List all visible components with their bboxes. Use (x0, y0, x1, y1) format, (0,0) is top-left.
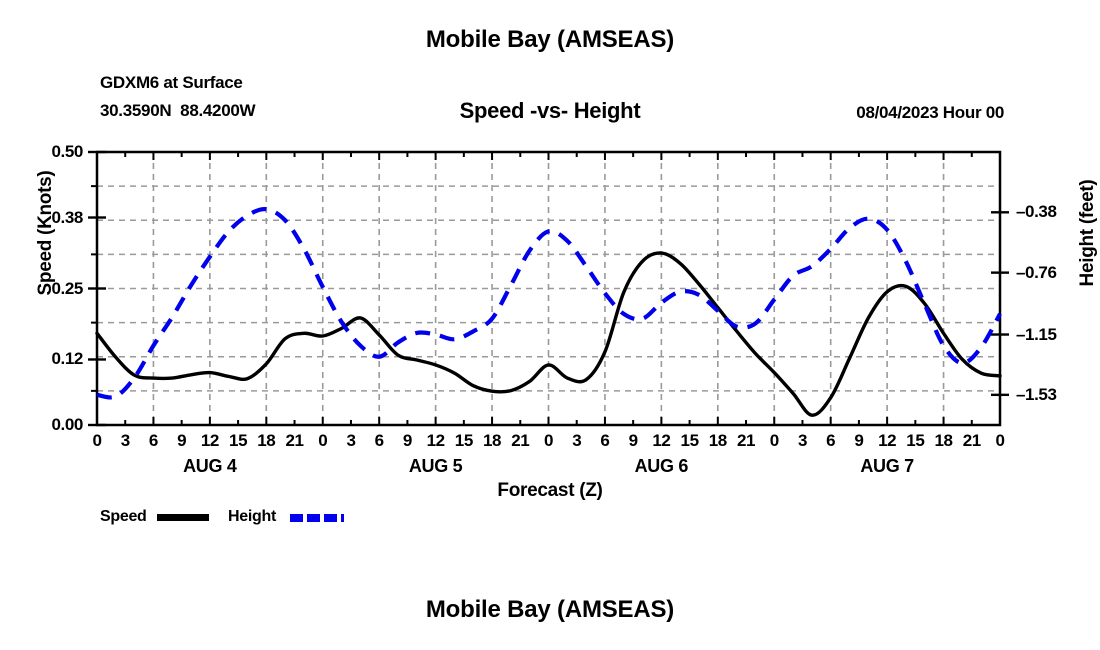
legend-swatch-height (290, 514, 344, 522)
day-label: AUG 4 (150, 456, 270, 477)
x-tick-label: 0 (980, 431, 1020, 451)
y-axis-label-right: Height (feet) (1077, 143, 1099, 323)
y-tick-label-right: –1.53 (1016, 385, 1100, 405)
chart-svg (0, 0, 1100, 650)
y-tick-label-right: –0.76 (1016, 263, 1100, 283)
day-label: AUG 6 (601, 456, 721, 477)
day-label: AUG 7 (827, 456, 947, 477)
y-tick-label-right: –1.15 (1016, 325, 1100, 345)
chart-page: Mobile Bay (AMSEAS) GDXM6 at Surface 30.… (0, 0, 1100, 650)
y-tick-label-left: 0.25 (0, 279, 83, 299)
gridlines (97, 152, 1000, 425)
legend-label-height: Height (228, 508, 276, 526)
y-tick-label-left: 0.50 (0, 142, 83, 162)
legend-swatch-speed (157, 514, 209, 521)
x-axis-label: Forecast (Z) (0, 480, 1100, 502)
y-tick-label-left: 0.12 (0, 349, 83, 369)
series-line-height (97, 209, 1000, 397)
footer-title: Mobile Bay (AMSEAS) (0, 596, 1100, 624)
y-tick-label-left: 0.00 (0, 415, 83, 435)
y-tick-label-left: 0.38 (0, 208, 83, 228)
legend-label-speed: Speed (100, 508, 147, 526)
day-label: AUG 5 (376, 456, 496, 477)
plot-area: Speed (Knots) Height (feet) Forecast (Z)… (0, 0, 1100, 650)
y-tick-label-right: –0.38 (1016, 202, 1100, 222)
